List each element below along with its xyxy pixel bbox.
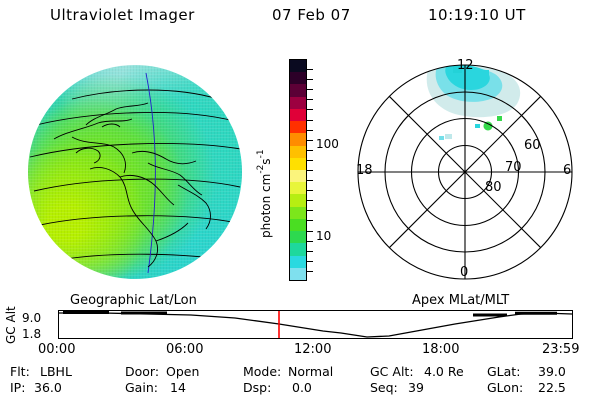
- status-ip-label: IP:: [10, 380, 25, 395]
- gc-alt-tick-low: 1.8: [22, 327, 41, 341]
- timeline-tick-labels: 00:00 06:00 12:00 18:00 23:59: [0, 342, 600, 360]
- colorbar-band: [290, 109, 306, 121]
- orbit-altitude-timeline[interactable]: [58, 310, 573, 339]
- colorbar-tick: [307, 99, 313, 100]
- gc-alt-axis-label: GC Alt: [4, 300, 18, 344]
- colorbar-tick: [307, 170, 313, 171]
- colorbar-tick: [307, 231, 313, 232]
- data-coverage-bars: [63, 313, 557, 316]
- colorbar-tick: [307, 150, 313, 151]
- colorbar-band: [290, 194, 306, 206]
- mlt-label-6: 6: [563, 163, 571, 178]
- colorbar-scale[interactable]: [289, 59, 307, 281]
- colorbar-band: [290, 170, 306, 182]
- status-ip-value: 36.0: [34, 380, 62, 395]
- colorbar-band: [290, 97, 306, 109]
- colorbar-band: [290, 182, 306, 194]
- colorbar-tick: [307, 190, 313, 191]
- colorbar-tick: [307, 220, 313, 221]
- status-seq-label: Seq:: [370, 380, 398, 395]
- mlt-label-18: 18: [356, 163, 373, 178]
- colorbar-label-100: 100: [316, 137, 339, 151]
- colorbar-tick: [307, 160, 313, 161]
- colorbar-band: [290, 219, 306, 231]
- mlat-ring-label-70: 70: [505, 160, 522, 175]
- colorbar-band: [290, 231, 306, 243]
- colorbar-band: [290, 280, 306, 281]
- time-tick-2359: 23:59: [542, 342, 579, 357]
- strip-caption-apex: Apex MLat/MLT: [412, 293, 509, 308]
- status-mode-label: Mode:: [243, 364, 281, 379]
- polar-grid: [358, 65, 572, 279]
- gc-alt-tick-high: 9.0: [22, 311, 41, 325]
- status-gain-value: 14: [170, 380, 186, 395]
- colorbar-band: [290, 133, 306, 145]
- auroral-emission-patch: [427, 64, 520, 140]
- colorbar-tick: [307, 210, 313, 211]
- status-glat-label: GLat:: [487, 364, 520, 379]
- status-door-label: Door:: [125, 364, 159, 379]
- earth-disk: [28, 65, 242, 279]
- colorbar-tick: [307, 140, 313, 141]
- status-glat-value: 39.0: [538, 364, 566, 379]
- status-mode-value: Normal: [288, 364, 333, 379]
- colorbar-band: [290, 268, 306, 280]
- mlt-label-12: 12: [457, 58, 474, 73]
- coastline-graticule-overlay: [28, 65, 242, 279]
- colorbar-band: [290, 84, 306, 96]
- colorbar-band: [290, 146, 306, 158]
- strip-caption-geographic: Geographic Lat/Lon: [70, 293, 197, 308]
- colorbar-label-10: 10: [316, 229, 331, 243]
- colorbar-band: [290, 72, 306, 84]
- colorbar-tick: [307, 200, 313, 201]
- colorbar-band: [290, 207, 306, 219]
- colorbar-tick: [307, 79, 313, 80]
- status-dsp-label: Dsp:: [243, 380, 271, 395]
- colorbar-tick-labels: 100 10: [316, 59, 356, 281]
- colorbar-tick: [307, 109, 313, 110]
- colorbar-tick: [307, 69, 313, 70]
- colorbar-tick: [307, 271, 313, 272]
- header-bar: Ultraviolet Imager 07 Feb 07 10:19:10 UT: [0, 6, 600, 30]
- mlat-ring-label-80: 80: [485, 180, 502, 195]
- time-tick-1200: 12:00: [294, 342, 331, 357]
- polar-mlat-mlt-plot[interactable]: 12 6 0 18 60 70 80: [357, 64, 573, 280]
- colorbar-band: [290, 60, 306, 72]
- status-gcalt-value: 4.0 Re: [424, 364, 464, 379]
- time-tick-1800: 18:00: [422, 342, 459, 357]
- colorbar-tick: [307, 251, 313, 252]
- colorbar-tick: [307, 261, 313, 262]
- colorbar-ticks: [307, 59, 314, 281]
- colorbar-axis-title: photon cm-2s-1: [252, 108, 270, 238]
- status-door-value: Open: [166, 364, 199, 379]
- colorbar-tick: [307, 241, 313, 242]
- colorbar-unit-sec: s: [259, 158, 273, 164]
- colorbar-tick: [307, 120, 313, 121]
- observation-date: 07 Feb 07: [272, 6, 351, 24]
- status-seq-value: 39: [408, 380, 424, 395]
- instrument-title: Ultraviolet Imager: [50, 6, 195, 24]
- status-glon-value: 22.5: [538, 380, 566, 395]
- observation-time: 10:19:10 UT: [428, 6, 526, 24]
- earth-dayglow-image[interactable]: [28, 65, 242, 279]
- status-readout-panel: Flt: LBHL Door: Open Mode: Normal GC Alt…: [0, 364, 600, 400]
- colorbar-band: [290, 256, 306, 268]
- time-tick-0600: 06:00: [166, 342, 203, 357]
- mlat-ring-label-60: 60: [524, 138, 541, 153]
- mlt-label-0: 0: [460, 265, 468, 280]
- colorbar-tick: [307, 180, 313, 181]
- colorbar-tick: [307, 130, 313, 131]
- status-flt-label: Flt:: [10, 364, 30, 379]
- colorbar-band: [290, 121, 306, 133]
- colorbar-unit-main: photon cm: [259, 174, 273, 238]
- status-glon-label: GLon:: [487, 380, 523, 395]
- colorbar-unit-exp1: -2: [256, 165, 266, 174]
- time-tick-0000: 00:00: [38, 342, 75, 357]
- status-flt-value: LBHL: [40, 364, 72, 379]
- colorbar-unit-exp2: -1: [256, 149, 266, 158]
- status-dsp-value: 0.0: [292, 380, 312, 395]
- status-gcalt-label: GC Alt:: [370, 364, 414, 379]
- status-gain-label: Gain:: [125, 380, 158, 395]
- colorbar-tick: [307, 89, 313, 90]
- gc-alt-trace: [59, 313, 572, 337]
- colorbar-band: [290, 158, 306, 170]
- colorbar-band: [290, 243, 306, 255]
